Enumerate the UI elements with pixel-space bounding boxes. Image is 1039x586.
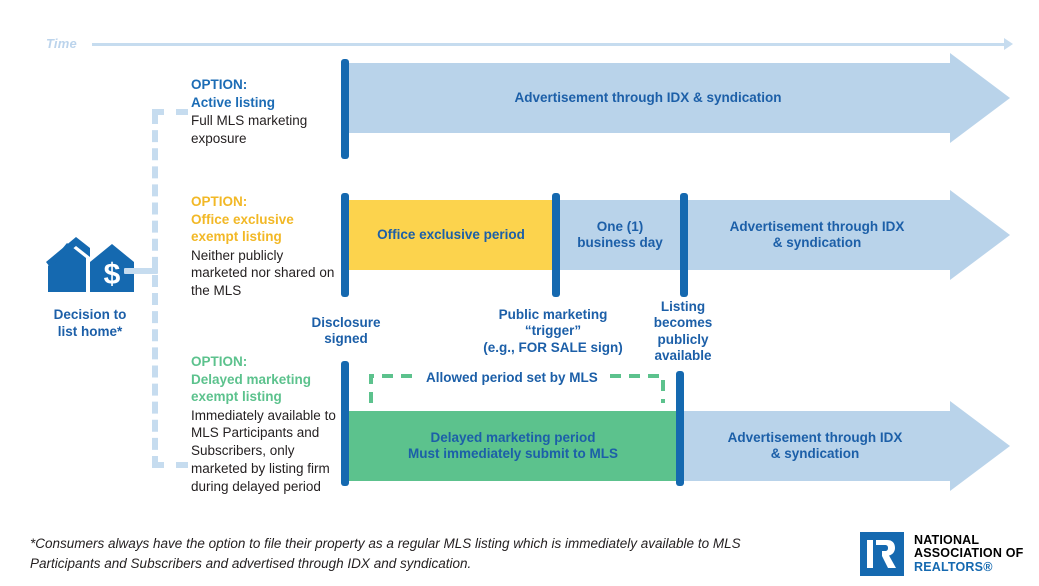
timeline-band-active-listing: Advertisement through IDX & syndication bbox=[346, 63, 1010, 133]
footnote: *Consumers always have the option to fil… bbox=[30, 534, 830, 575]
decision-caption-line2: list home* bbox=[32, 324, 148, 341]
option-spine-branch-bottom bbox=[152, 462, 188, 468]
band-segment-line1: Advertisement through IDX bbox=[730, 219, 905, 235]
option-active-listing: OPTION: Active listing Full MLS marketin… bbox=[191, 76, 341, 148]
option-kicker: OPTION: bbox=[191, 193, 341, 211]
band-segment-office-exclusive-period: Office exclusive period bbox=[346, 200, 556, 270]
marker-bar-active-start bbox=[341, 59, 349, 159]
time-axis-label: Time bbox=[46, 36, 77, 51]
band-segment-line2: & syndication bbox=[773, 235, 862, 251]
footnote-line1: *Consumers always have the option to fil… bbox=[30, 534, 830, 554]
option-description: Full MLS marketing exposure bbox=[191, 112, 341, 148]
band-segment-line2: & syndication bbox=[771, 446, 860, 462]
timeline-band-office-exclusive: Office exclusive period One (1) business… bbox=[346, 200, 1010, 270]
option-office-exclusive-exempt-listing: OPTION: Office exclusive exempt listing … bbox=[191, 193, 341, 300]
milestone-public-marketing-trigger: Public marketing “trigger” (e.g., FOR SA… bbox=[468, 307, 638, 356]
band-arrow-head-icon bbox=[950, 190, 1010, 280]
house-dollar-icon: $ bbox=[46, 281, 134, 298]
milestone-line4: available bbox=[641, 348, 725, 364]
option-kicker: OPTION: bbox=[191, 76, 341, 94]
marker-bar-disclosure-signed bbox=[341, 193, 349, 297]
decision-to-list-home: $ Decision to list home* bbox=[32, 232, 148, 341]
milestone-line3: publicly bbox=[641, 332, 725, 348]
option-description: Immediately available to MLS Participant… bbox=[191, 407, 341, 496]
milestone-line1: Listing bbox=[641, 299, 725, 315]
decision-caption: Decision to list home* bbox=[32, 307, 148, 341]
band-segment-delayed-marketing-period: Delayed marketing period Must immediatel… bbox=[346, 411, 680, 481]
nar-wordmark-line1: NATIONAL bbox=[914, 534, 1024, 548]
marker-bar-delayed-start bbox=[341, 361, 349, 486]
band-arrow-head-icon bbox=[950, 401, 1010, 491]
nar-wordmark: NATIONAL ASSOCIATION OF REALTORS® bbox=[914, 534, 1024, 575]
option-description: Neither publicly marketed nor shared on … bbox=[191, 247, 341, 300]
milestone-disclosure-signed: Disclosure signed bbox=[296, 315, 396, 348]
decision-caption-line1: Decision to bbox=[32, 307, 148, 324]
infographic-canvas: Time $ Decision to list home* OPTION: Ac… bbox=[0, 0, 1039, 586]
band-segment-advertisement: Advertisement through IDX & syndication bbox=[346, 63, 950, 133]
option-delayed-marketing-exempt-listing: OPTION: Delayed marketing exempt listing… bbox=[191, 353, 341, 496]
svg-text:$: $ bbox=[104, 258, 121, 291]
band-segment-line2: Must immediately submit to MLS bbox=[408, 446, 618, 462]
option-title: Office exclusive exempt listing bbox=[191, 211, 341, 246]
milestone-line1: Public marketing bbox=[468, 307, 638, 323]
nar-r-logo-icon bbox=[860, 532, 904, 576]
nar-wordmark-line3: REALTORS® bbox=[914, 561, 1024, 575]
band-segment-line1: Delayed marketing period bbox=[430, 430, 595, 446]
band-segment-line1: One (1) bbox=[597, 219, 644, 235]
nar-wordmark-line2: ASSOCIATION OF bbox=[914, 547, 1024, 561]
option-spine-vertical bbox=[152, 112, 158, 468]
band-segment-advertisement: Advertisement through IDX & syndication bbox=[684, 200, 950, 270]
marker-bar-delayed-end bbox=[676, 371, 684, 486]
option-title: Active listing bbox=[191, 94, 341, 112]
allowed-period-label: Allowed period set by MLS bbox=[420, 370, 604, 385]
footnote-line2: Participants and Subscribers and adverti… bbox=[30, 554, 830, 574]
option-kicker: OPTION: bbox=[191, 353, 341, 371]
band-segment-advertisement: Advertisement through IDX & syndication bbox=[680, 411, 950, 481]
time-axis-arrow-icon bbox=[1004, 38, 1013, 50]
option-spine-branch-top bbox=[152, 109, 188, 115]
milestone-line1: Disclosure bbox=[296, 315, 396, 331]
time-axis-line bbox=[92, 43, 1010, 46]
band-segment-line1: Advertisement through IDX bbox=[728, 430, 903, 446]
band-arrow-head-icon bbox=[950, 53, 1010, 143]
milestone-listing-publicly-available: Listing becomes publicly available bbox=[641, 299, 725, 365]
marker-bar-listing-publicly-available bbox=[680, 193, 688, 297]
milestone-line2: “trigger” bbox=[468, 323, 638, 339]
milestone-line3: (e.g., FOR SALE sign) bbox=[468, 340, 638, 356]
band-segment-line2: business day bbox=[577, 235, 663, 251]
milestone-line2: becomes bbox=[641, 315, 725, 331]
option-title: Delayed marketing exempt listing bbox=[191, 371, 341, 406]
band-segment-one-business-day: One (1) business day bbox=[556, 200, 684, 270]
milestone-line2: signed bbox=[296, 331, 396, 347]
marker-bar-public-marketing-trigger bbox=[552, 193, 560, 297]
nar-logo: NATIONAL ASSOCIATION OF REALTORS® bbox=[860, 532, 1024, 576]
